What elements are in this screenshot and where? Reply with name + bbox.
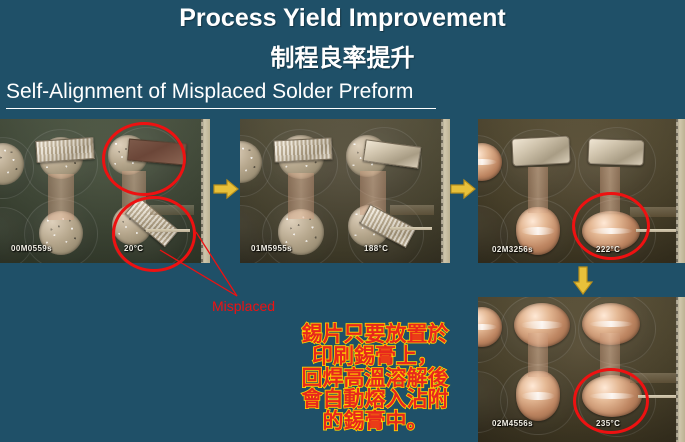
panel-4-timestamp: 02M4556s	[492, 419, 533, 428]
highlight-circle-misplaced-top	[102, 122, 186, 196]
pcb-trace	[390, 205, 434, 215]
reflowed-solder-ball	[516, 371, 560, 421]
highlight-circle-misplaced-bottom	[112, 196, 196, 272]
arrow-right-icon	[213, 177, 239, 201]
panel-2-temperature: 188°C	[364, 244, 388, 253]
photo-edge-strip	[676, 119, 685, 263]
chinese-callout: 錫片只要放置於 印刷錫膏上， 回焊高溫溶解後 會自動熔入沾附 的錫膏中。	[280, 324, 470, 433]
solder-preform	[511, 136, 570, 167]
arrow-down-icon	[571, 266, 595, 296]
panel-2-timestamp: 01M5955s	[251, 244, 292, 253]
solder-preform	[273, 137, 332, 162]
misplaced-label: Misplaced	[212, 298, 275, 314]
panel-3-timestamp: 02M3256s	[492, 245, 533, 254]
callout-line-5: 的錫膏中。	[280, 411, 470, 433]
pcb-trace	[390, 227, 432, 230]
callout-line-3: 回焊高溫溶解後	[280, 368, 470, 390]
photo-edge-strip	[201, 119, 210, 263]
slide-canvas: Process Yield Improvement 制程良率提升 Self-Al…	[0, 0, 685, 442]
arrow-right-icon	[450, 177, 476, 201]
solder-preform	[35, 137, 94, 163]
highlight-circle-aligned-222	[572, 192, 650, 260]
subtitle-underline	[6, 108, 436, 109]
pad-neck	[48, 174, 74, 220]
callout-line-2: 印刷錫膏上，	[280, 346, 470, 368]
pad-neck	[288, 173, 314, 219]
photo-edge-strip	[676, 297, 685, 442]
pad-neck	[528, 333, 548, 377]
slide-title-en: Process Yield Improvement	[0, 4, 685, 33]
slide-title-zh: 制程良率提升	[0, 38, 685, 73]
solder-preform	[588, 138, 645, 166]
pad-neck	[528, 167, 548, 213]
highlight-circle-aligned-235	[573, 368, 649, 434]
photo-edge-strip	[441, 119, 450, 263]
callout-line-4: 會自動熔入沾附	[280, 389, 470, 411]
callout-line-1: 錫片只要放置於	[280, 324, 470, 346]
photo-panel-2: 01M5955s 188°C	[240, 119, 450, 263]
slide-subtitle: Self-Alignment of Misplaced Solder Prefo…	[6, 80, 413, 106]
panel-1-timestamp: 00M0559s	[11, 244, 52, 253]
